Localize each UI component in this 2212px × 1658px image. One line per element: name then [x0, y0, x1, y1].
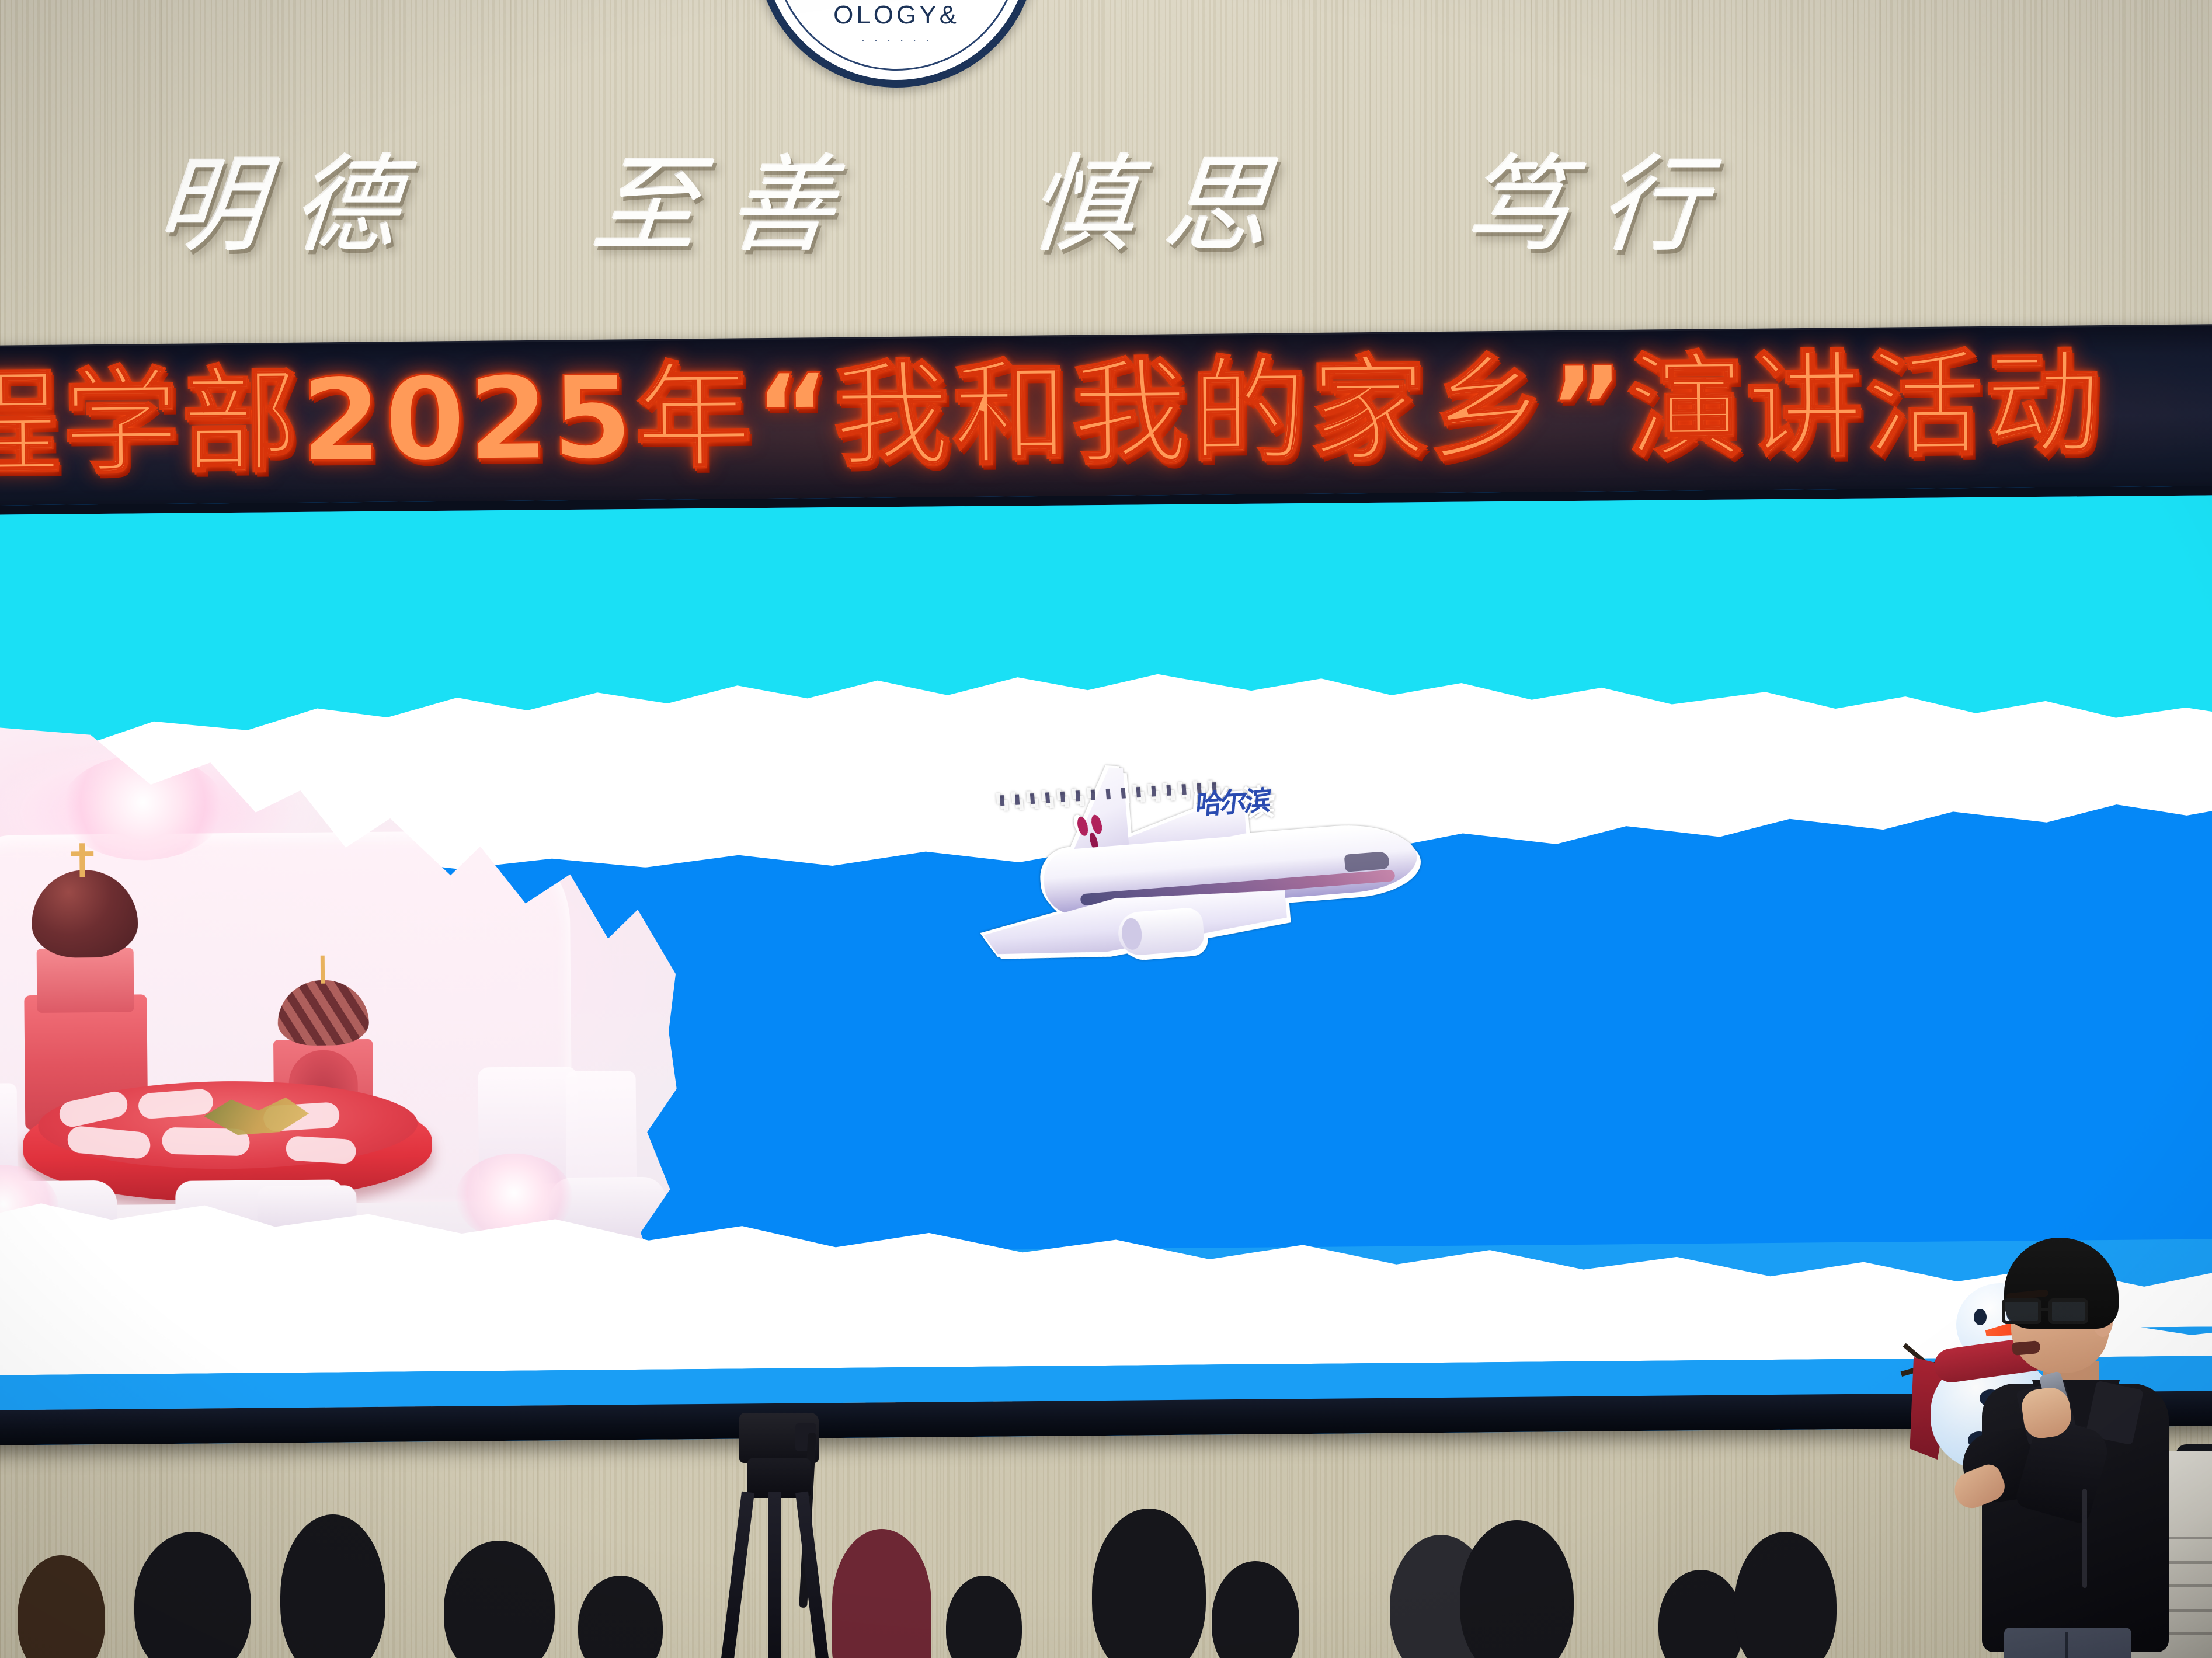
event-led-banner: 程学部2025年“我和我的家乡”演讲活动 [0, 324, 2212, 510]
motto-pair-2: 至 善 [593, 154, 834, 259]
seal-subtext: · · · · · · [764, 32, 1029, 48]
motto-char-2: 德 [288, 154, 403, 259]
audience-head [1658, 1570, 1743, 1658]
audience-head [1212, 1561, 1299, 1658]
airplane-graphic: 哈尔滨 [948, 746, 1446, 970]
motto-char-1: 明 [153, 154, 267, 259]
ice-disc-segment [285, 1135, 356, 1164]
cockpit-window [1344, 851, 1390, 872]
cathedral2-spire [321, 956, 325, 984]
audience-head [946, 1576, 1022, 1658]
motto-char-3: 至 [589, 154, 703, 259]
projection-screen: 哈尔滨 [0, 486, 2212, 1445]
audience-row [0, 1483, 2212, 1658]
eyeglasses-icon [2002, 1298, 2098, 1326]
motto-char-5: 慎 [1024, 154, 1139, 259]
audience-head [444, 1541, 555, 1658]
audience-head [1734, 1532, 1837, 1658]
wall-motto: 明 德 至 善 慎 思 笃 行 [158, 133, 1705, 279]
seal-text: OLOGY& [764, 1, 1029, 30]
screenshot-stage: OLOGY& · · · · · · 明 德 至 善 慎 思 笃 行 程学部20… [0, 0, 2212, 1658]
airplane-fuselage-text: 哈尔滨 [1194, 779, 1271, 822]
glasses-lens-left [2002, 1298, 2041, 1324]
audience-head [18, 1555, 105, 1658]
audience-head [832, 1529, 931, 1658]
motto-char-8: 行 [1595, 154, 1710, 259]
motto-pair-4: 笃 行 [1465, 154, 1705, 259]
motto-pair-1: 明 德 [158, 154, 398, 259]
onion-dome-striped-icon [277, 980, 369, 1046]
motto-pair-3: 慎 思 [1029, 154, 1270, 259]
audience-head [578, 1576, 663, 1658]
audience-head [1460, 1520, 1574, 1658]
audience-head [1092, 1509, 1206, 1658]
audience-head [134, 1532, 251, 1658]
banner-text: 程学部2025年“我和我的家乡”演讲活动 [0, 336, 2212, 490]
motto-char-7: 笃 [1460, 154, 1574, 259]
airplane-outline: 哈尔滨 [948, 746, 1446, 970]
motto-char-6: 思 [1160, 154, 1274, 259]
audience-head [280, 1514, 385, 1658]
motto-char-4: 善 [724, 154, 839, 259]
glasses-lens-right [2048, 1298, 2088, 1324]
cross-icon [79, 843, 85, 877]
